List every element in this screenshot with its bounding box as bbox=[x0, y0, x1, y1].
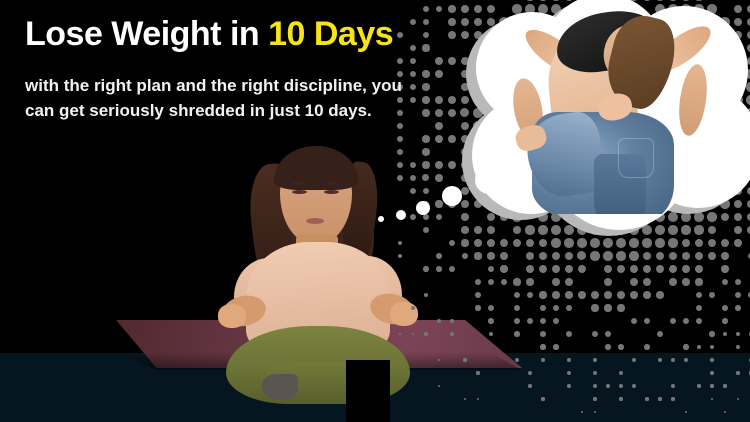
halftone-dot bbox=[423, 6, 429, 12]
halftone-dot bbox=[669, 265, 677, 273]
halftone-dot bbox=[629, 251, 638, 260]
halftone-dot bbox=[436, 6, 443, 13]
halftone-dot bbox=[644, 344, 649, 349]
halftone-dot bbox=[695, 278, 702, 285]
halftone-dot bbox=[397, 123, 403, 129]
eye-right-closed bbox=[324, 190, 339, 194]
halftone-dot bbox=[552, 265, 560, 273]
halftone-dot bbox=[435, 57, 443, 65]
subtitle: with the right plan and the right discip… bbox=[25, 74, 455, 123]
halftone-dot bbox=[423, 19, 430, 26]
halftone-dot bbox=[721, 265, 728, 272]
halftone-dot bbox=[565, 291, 572, 298]
halftone-dot bbox=[500, 265, 507, 272]
halftone-dot bbox=[566, 331, 572, 337]
halftone-dot bbox=[435, 174, 442, 181]
halftone-dot bbox=[722, 318, 727, 323]
slim-woman-image bbox=[498, 2, 730, 214]
halftone-dot bbox=[526, 265, 534, 273]
halftone-dot bbox=[604, 265, 613, 274]
halftone-dot bbox=[696, 318, 702, 324]
halftone-dot bbox=[514, 318, 520, 324]
halftone-dot bbox=[500, 252, 508, 260]
halftone-dot bbox=[656, 291, 663, 298]
halftone-dot bbox=[540, 305, 547, 312]
halftone-dot bbox=[630, 278, 638, 286]
halftone-dot bbox=[578, 265, 586, 273]
halftone-dot bbox=[475, 292, 481, 298]
halftone-dot bbox=[513, 278, 520, 285]
halftone-dot bbox=[604, 291, 612, 299]
halftone-dot bbox=[618, 344, 623, 349]
halftone-dot bbox=[539, 252, 548, 261]
halftone-dot bbox=[436, 214, 443, 221]
halftone-dot bbox=[617, 291, 625, 299]
halftone-dot bbox=[643, 291, 650, 298]
halftone-dot bbox=[656, 265, 664, 273]
halftone-dot bbox=[656, 252, 665, 261]
halftone-dot bbox=[448, 161, 456, 169]
halftone-dot bbox=[697, 345, 702, 350]
halftone-dot bbox=[449, 266, 455, 272]
halftone-dot bbox=[682, 252, 690, 260]
page-title: Lose Weight in 10 Days bbox=[25, 17, 393, 53]
halftone-dot bbox=[605, 344, 611, 350]
thought-tail-dot-2 bbox=[396, 210, 406, 220]
halftone-dot bbox=[436, 253, 442, 259]
halftone-dot bbox=[552, 291, 559, 298]
halftone-dot bbox=[669, 252, 678, 261]
halftone-dot bbox=[422, 44, 429, 51]
halftone-dot bbox=[526, 252, 534, 260]
halftone-dot bbox=[604, 304, 611, 311]
halftone-dot bbox=[488, 266, 495, 273]
halftone-dot bbox=[423, 188, 430, 195]
halftone-dot bbox=[539, 265, 547, 273]
halftone-dot bbox=[553, 344, 558, 349]
halftone-dot bbox=[436, 266, 442, 272]
halftone-dot bbox=[514, 305, 520, 311]
headline-accent: 10 Days bbox=[268, 15, 393, 53]
halftone-dot bbox=[540, 344, 545, 349]
halftone-dot bbox=[527, 318, 533, 324]
halftone-dot bbox=[474, 252, 481, 259]
floor-black-column bbox=[346, 360, 390, 422]
halftone-dot bbox=[449, 240, 456, 247]
halftone-dot bbox=[410, 58, 417, 65]
halftone-dot bbox=[683, 318, 689, 324]
floor-notch-right bbox=[732, 340, 750, 353]
halftone-dot bbox=[722, 279, 729, 286]
halftone-dot bbox=[605, 331, 611, 337]
halftone-dot bbox=[657, 331, 663, 337]
meditating-woman bbox=[218, 138, 418, 366]
halftone-dot bbox=[617, 265, 626, 274]
halftone-dot bbox=[435, 161, 443, 169]
halftone-dot bbox=[591, 304, 598, 311]
halftone-dot bbox=[423, 266, 428, 271]
halftone-dot bbox=[488, 318, 493, 323]
halftone-dot bbox=[410, 19, 416, 25]
subtitle-line-2: can get seriously shredded in just 10 da… bbox=[25, 99, 455, 124]
sock-left bbox=[262, 374, 298, 400]
halftone-dot bbox=[735, 305, 741, 311]
halftone-dot bbox=[592, 331, 598, 337]
halftone-dot bbox=[565, 278, 573, 286]
halftone-dot bbox=[488, 305, 494, 311]
halftone-dot bbox=[410, 45, 417, 52]
halftone-dot bbox=[630, 291, 638, 299]
halftone-dot bbox=[565, 265, 573, 273]
halftone-dot bbox=[526, 278, 533, 285]
halftone-dot bbox=[566, 305, 573, 312]
lips bbox=[306, 218, 324, 224]
halftone-dot bbox=[448, 5, 455, 12]
halftone-dot bbox=[553, 318, 559, 324]
halftone-dot bbox=[475, 279, 481, 285]
halftone-dot bbox=[487, 252, 494, 259]
halftone-dot bbox=[540, 331, 546, 337]
slim-forearm-right bbox=[675, 63, 711, 138]
halftone-dot bbox=[603, 251, 612, 260]
halftone-dot bbox=[695, 265, 703, 273]
halftone-dot bbox=[696, 292, 703, 299]
halftone-dot bbox=[422, 135, 429, 142]
halftone-dot bbox=[553, 305, 560, 312]
halftone-dot bbox=[397, 58, 403, 64]
halftone-dot bbox=[488, 279, 495, 286]
halftone-dot bbox=[578, 291, 585, 298]
halftone-dot bbox=[448, 135, 456, 143]
halftone-dot bbox=[643, 265, 651, 273]
halftone-dot bbox=[722, 305, 728, 311]
halftone-dot bbox=[735, 292, 741, 298]
halftone-dot bbox=[616, 251, 625, 260]
halftone-dot bbox=[682, 278, 689, 285]
weight-loss-banner: Lose Weight in 10 Days with the right pl… bbox=[0, 0, 750, 422]
halftone-dot bbox=[644, 318, 650, 324]
halftone-dot bbox=[631, 318, 637, 324]
halftone-dot bbox=[422, 174, 429, 181]
halftone-dot bbox=[540, 318, 546, 324]
halftone-dot bbox=[735, 279, 741, 285]
halftone-dot bbox=[670, 318, 676, 324]
halftone-dot bbox=[617, 304, 624, 311]
halftone-dot bbox=[448, 31, 456, 39]
halftone-dot bbox=[710, 345, 715, 350]
jeans-pocket bbox=[618, 138, 654, 178]
halftone-dot bbox=[422, 148, 429, 155]
halftone-dot bbox=[501, 279, 508, 286]
thought-tail-dot-5 bbox=[475, 166, 503, 194]
halftone-dot bbox=[736, 332, 741, 337]
halftone-dot bbox=[475, 305, 480, 310]
eye-left-closed bbox=[292, 190, 307, 194]
halftone-dot bbox=[709, 331, 714, 336]
halftone-dot bbox=[604, 278, 612, 286]
halftone-dot bbox=[696, 305, 702, 311]
halftone-dot bbox=[709, 292, 716, 299]
halftone-dot bbox=[423, 227, 429, 233]
subtitle-line-1: with the right plan and the right discip… bbox=[25, 74, 455, 99]
halftone-dot bbox=[695, 252, 703, 260]
halftone-dot bbox=[514, 292, 521, 299]
halftone-dot bbox=[643, 252, 652, 261]
halftone-dot bbox=[448, 57, 456, 65]
halftone-dot bbox=[577, 251, 586, 260]
hair-top bbox=[274, 146, 358, 190]
halftone-dot bbox=[682, 265, 690, 273]
halftone-dot bbox=[397, 32, 403, 38]
thought-tail-dot-3 bbox=[416, 201, 430, 215]
halftone-dot bbox=[527, 292, 534, 299]
halftone-dot bbox=[422, 161, 429, 168]
halftone-dot bbox=[514, 331, 519, 336]
hand-left-mudra bbox=[218, 304, 246, 328]
halftone-dot bbox=[539, 291, 546, 298]
halftone-dot bbox=[723, 332, 728, 337]
halftone-dot bbox=[435, 200, 442, 207]
thought-tail-dot-1 bbox=[378, 216, 384, 222]
halftone-dot bbox=[669, 278, 677, 286]
halftone-dot bbox=[462, 253, 469, 260]
halftone-dot bbox=[591, 291, 599, 299]
halftone-dot bbox=[643, 278, 651, 286]
halftone-dot bbox=[552, 278, 560, 286]
halftone-dot bbox=[489, 332, 494, 337]
halftone-dot bbox=[424, 293, 428, 297]
halftone-dot bbox=[683, 344, 688, 349]
halftone-dot bbox=[721, 252, 729, 260]
thought-tail-dot-4 bbox=[442, 186, 462, 206]
halftone-dot bbox=[435, 135, 443, 143]
halftone-dot bbox=[448, 18, 456, 26]
headline-lead: Lose Weight in bbox=[25, 15, 268, 53]
halftone-dot bbox=[552, 252, 561, 261]
halftone-dot bbox=[565, 252, 574, 261]
halftone-dot bbox=[423, 32, 430, 39]
halftone-dot bbox=[590, 251, 599, 260]
hand-right-mudra bbox=[390, 302, 418, 326]
halftone-dot bbox=[708, 252, 716, 260]
halftone-dot bbox=[630, 265, 639, 274]
